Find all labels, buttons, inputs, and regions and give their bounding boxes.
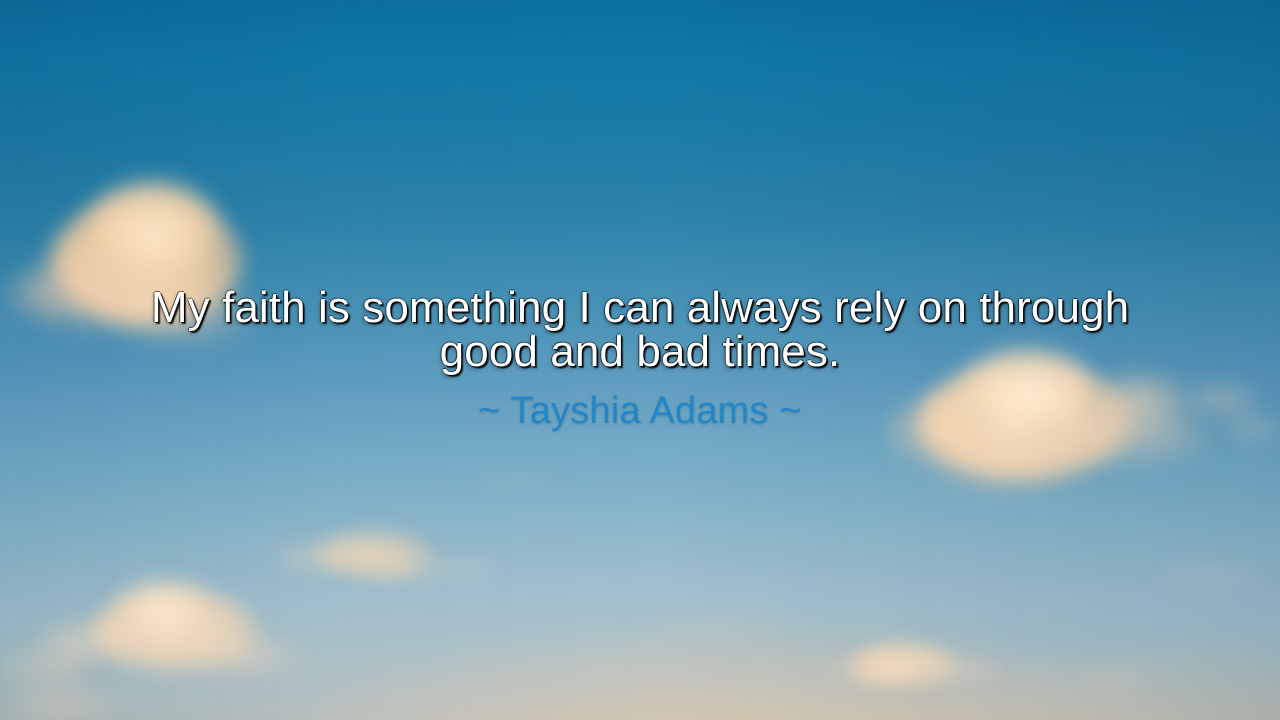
quote-image-canvas: My faith is something I can always rely … xyxy=(0,0,1280,720)
quote-text: My faith is something I can always rely … xyxy=(96,286,1184,374)
quote-block: My faith is something I can always rely … xyxy=(0,286,1280,430)
quote-author: ~ Tayshia Adams ~ xyxy=(96,392,1184,430)
